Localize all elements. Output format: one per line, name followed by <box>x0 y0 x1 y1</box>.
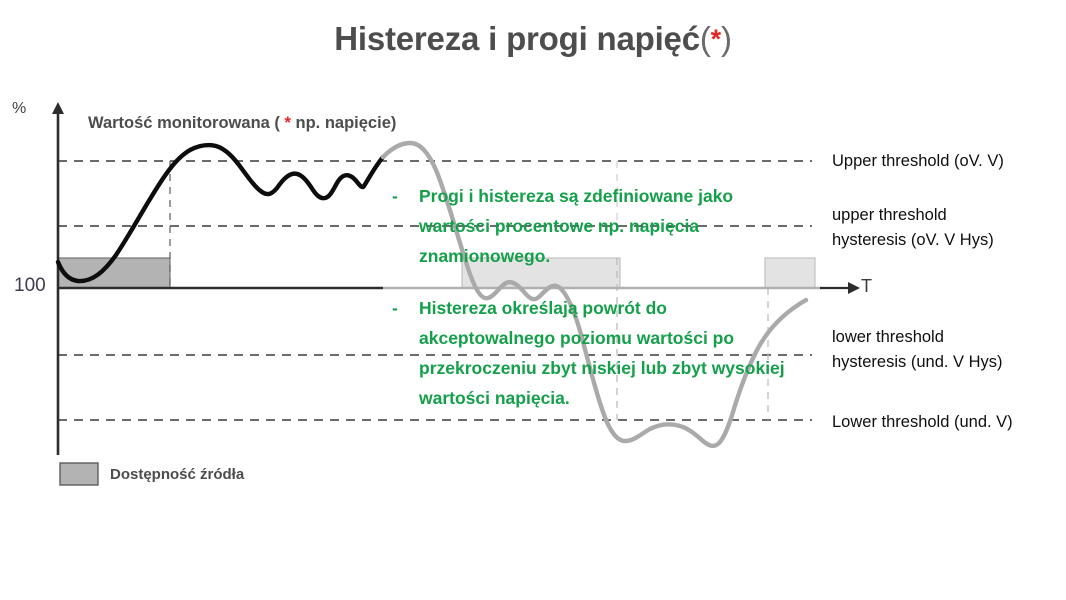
monitored-value-label-post: np. napięcie) <box>291 114 396 132</box>
label-upper-threshold: Upper threshold (oV. V) <box>832 149 1004 174</box>
bullet-item-2: - Histereza określają powrót do akceptow… <box>392 293 807 413</box>
slide-root: Histereza i progi napięć(*) % 10 <box>0 0 1066 600</box>
legend-label-availability: Dostępność źródła <box>110 466 244 483</box>
bullet-item-1: - Progi i histereza są zdefiniowane jako… <box>392 181 802 271</box>
label-lower-threshold-hysteresis: lower threshold hysteresis (und. V Hys) <box>832 325 1003 375</box>
bullet-text-2: Histereza określają powrót do akceptowal… <box>419 293 807 413</box>
bullet-marker-1: - <box>392 181 398 211</box>
monitored-value-label-pre: Wartość monitorowana ( <box>88 114 285 132</box>
availability-bar-1 <box>58 258 170 288</box>
y-axis-tick-100: 100 <box>14 275 46 297</box>
x-axis-arrow-head <box>848 282 860 294</box>
monitored-value-label: Wartość monitorowana ( * np. napięcie) <box>88 114 396 133</box>
x-axis-label: T <box>861 276 872 297</box>
bullet-text-1: Progi i histereza są zdefiniowane jako w… <box>419 181 802 271</box>
label-lower-threshold: Lower threshold (und. V) <box>832 410 1013 435</box>
legend-swatch <box>60 463 98 485</box>
y-axis-arrow-head <box>52 102 64 114</box>
y-axis-unit-label: % <box>12 100 26 118</box>
label-upper-threshold-hysteresis: upper threshold hysteresis (oV. V Hys) <box>832 203 994 253</box>
bullet-marker-2: - <box>392 293 398 323</box>
